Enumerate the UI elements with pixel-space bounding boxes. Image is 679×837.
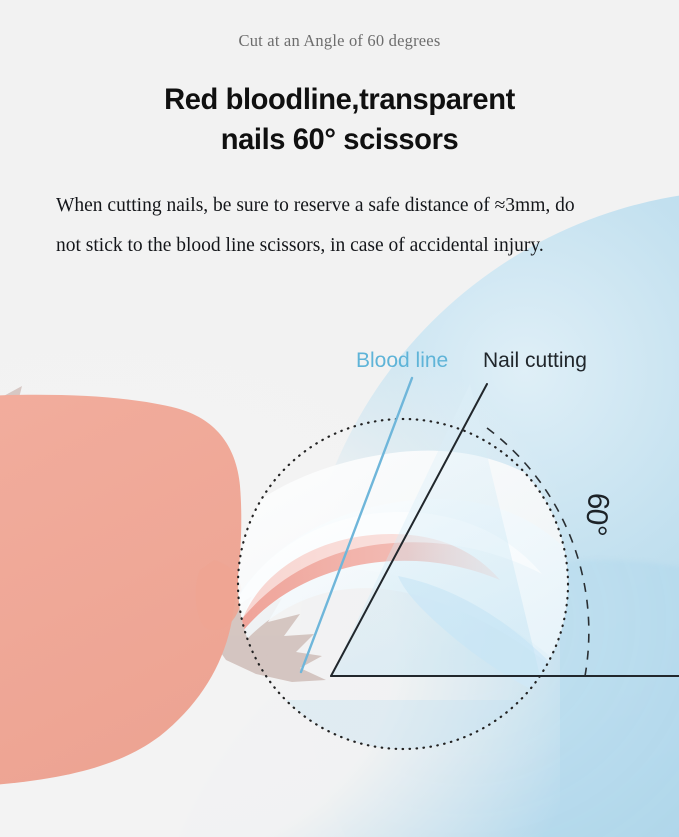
background-blue-blob	[300, 190, 679, 837]
lens-bottom-wash	[150, 700, 620, 760]
claw-highlight-band	[214, 512, 542, 660]
nail-cutting-label: Nail cutting	[483, 349, 587, 373]
page-title: Red bloodline,transparent nails 60° scis…	[10, 80, 669, 160]
paw-body	[0, 395, 241, 788]
paw-claw-root	[196, 560, 242, 630]
background-light-veil	[0, 300, 560, 837]
blood-line-quick	[236, 534, 500, 640]
promo-page: Cut at an Angle of 60 degrees Red bloodl…	[0, 0, 679, 837]
nail-cutting-line	[331, 384, 487, 676]
angle-label: 60°	[577, 491, 615, 536]
fur-tufts-upper	[0, 386, 236, 500]
kicker-text: Cut at an Angle of 60 degrees	[0, 31, 679, 51]
cut-wedge-helper	[331, 384, 563, 676]
page-title-line-1: Red bloodline,transparent	[164, 83, 515, 116]
claw-outer-shell	[150, 451, 625, 712]
blood-line-label: Blood line	[356, 349, 448, 373]
claw-tip-sheen	[398, 576, 596, 716]
cut-angle-wedge	[331, 384, 540, 676]
paw-illustration	[0, 386, 326, 788]
magnifier-contents	[150, 451, 625, 760]
claw-inner-body	[196, 499, 615, 716]
background-blue-blob-lower	[150, 560, 679, 837]
blood-line	[301, 378, 412, 672]
body-paragraph: When cutting nails, be sure to reserve a…	[56, 186, 576, 266]
angle-arc	[487, 428, 589, 676]
fur-tufts-lower	[210, 586, 326, 682]
magnifier-circle	[238, 419, 568, 749]
page-title-line-2: nails 60° scissors	[10, 120, 669, 160]
